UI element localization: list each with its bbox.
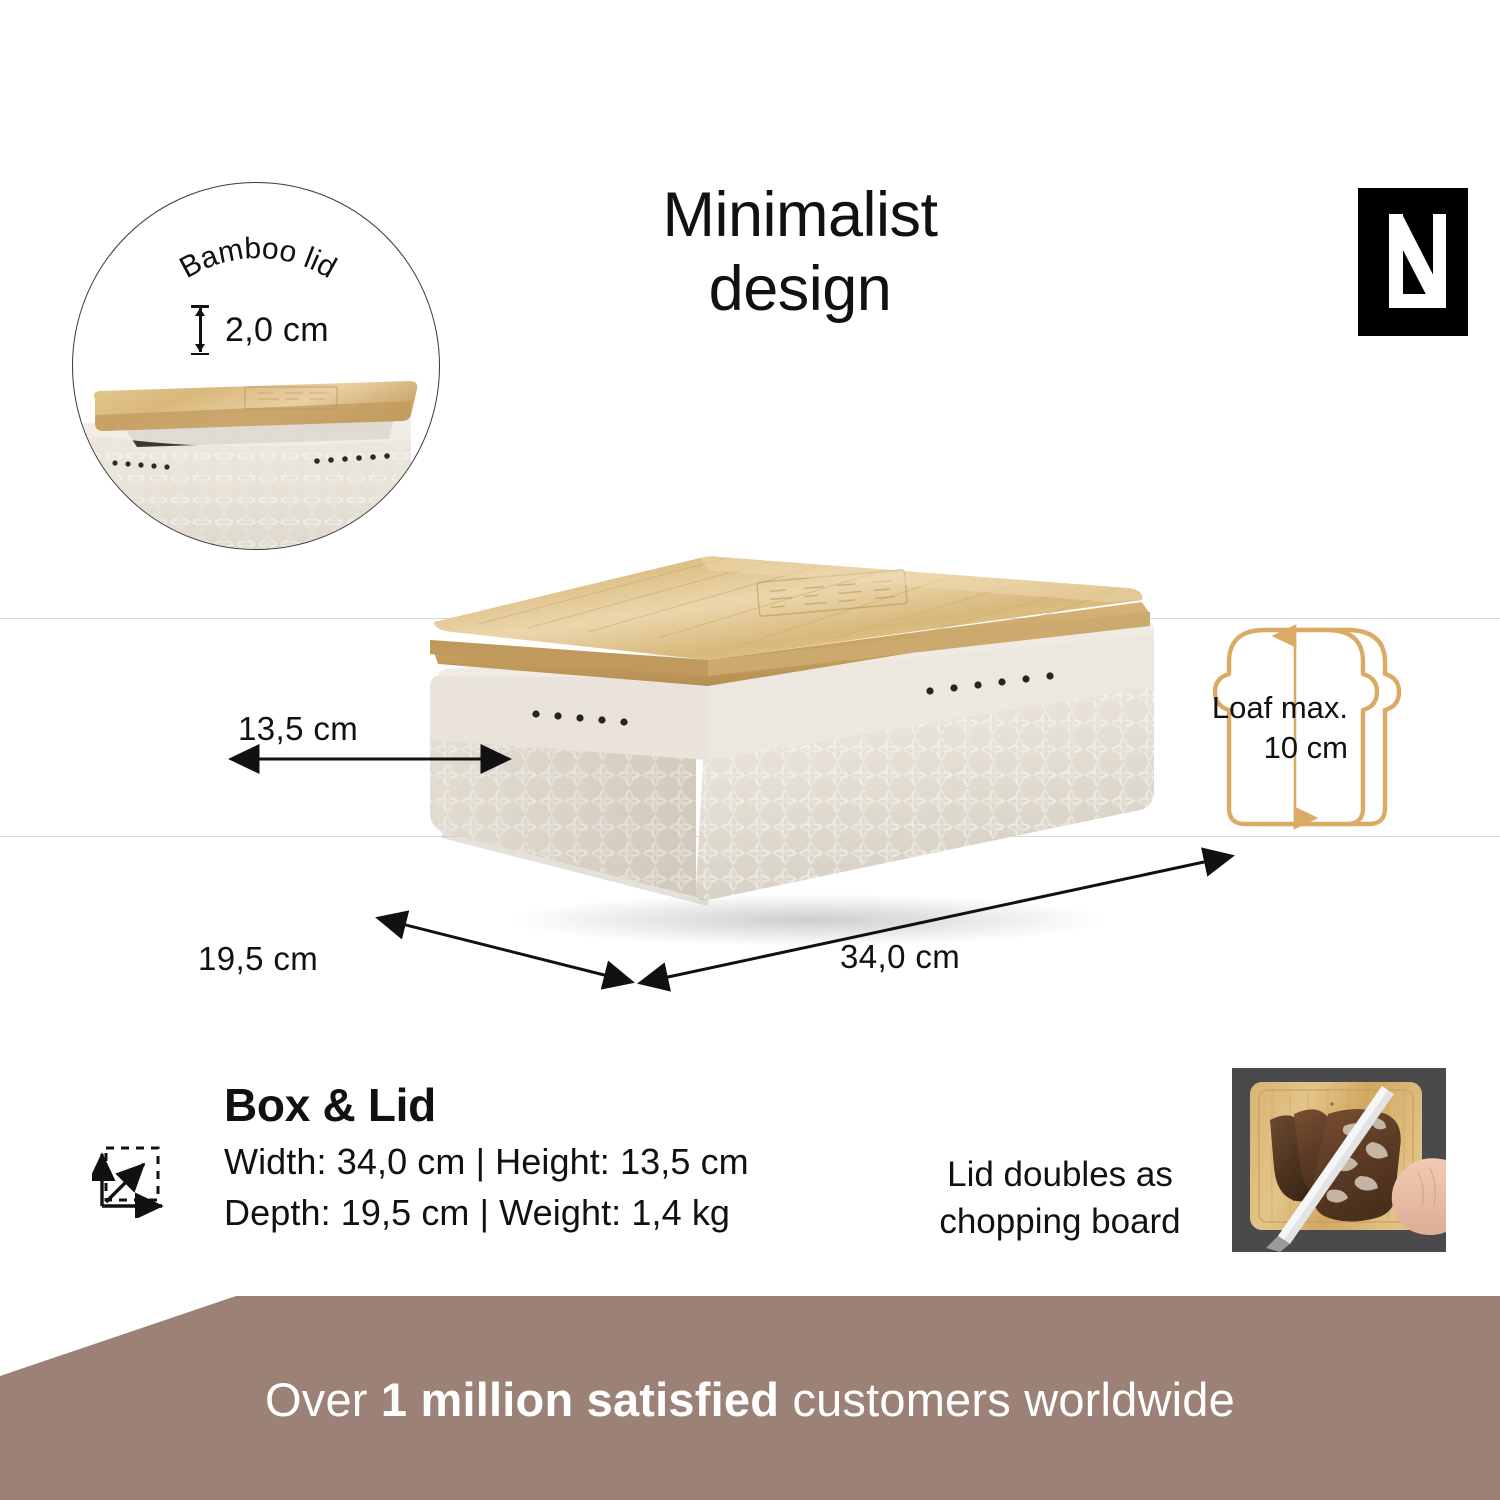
height-dimension-label: 13,5 cm — [238, 710, 358, 748]
depth-dimension-label: 19,5 cm — [198, 940, 318, 978]
loaf-max-line2: 10 cm — [1188, 728, 1348, 768]
svg-text:Bamboo lid: Bamboo lid — [174, 232, 341, 285]
spec-text-group: Box & Lid Width: 34,0 cm | Height: 13,5 … — [224, 1078, 749, 1238]
loaf-max-label: Loaf max. 10 cm — [1188, 688, 1348, 767]
cutting-board-illustration — [1232, 1068, 1446, 1252]
spec-line-2: Depth: 19,5 cm | Weight: 1,4 kg — [224, 1187, 749, 1238]
brand-logo — [1358, 188, 1468, 336]
page-title-line2: design — [520, 252, 1080, 326]
inset-arc-text: Bamboo lid — [174, 232, 341, 285]
spec-line-1: Width: 34,0 cm | Height: 13,5 cm — [224, 1136, 749, 1187]
chopping-board-line1: Lid doubles as — [947, 1155, 1173, 1194]
width-dimension-label: 34,0 cm — [840, 938, 960, 976]
bamboo-lid-inset: Bamboo lid 2,0 cm — [72, 182, 440, 550]
spec-heading: Box & Lid — [224, 1078, 749, 1132]
infographic-canvas: Minimalist design Bamboo lid 2,0 cm — [0, 0, 1500, 1500]
page-title-line1: Minimalist — [662, 180, 937, 250]
banner-highlight: 1 million satisfied — [381, 1373, 779, 1426]
bread-on-cutting-board-photo — [1232, 1068, 1446, 1252]
chopping-board-label: Lid doubles as chopping board — [905, 1152, 1215, 1245]
bread-box-product-image — [408, 528, 1168, 948]
loaf-max-line1: Loaf max. — [1212, 690, 1348, 725]
height-arrow-icon — [191, 305, 209, 355]
lid-thickness-row: 2,0 cm — [191, 305, 329, 355]
page-title: Minimalist design — [520, 178, 1080, 327]
trust-banner-text: Over 1 million satisfied customers world… — [0, 1372, 1500, 1427]
banner-suffix: customers worldwide — [779, 1373, 1235, 1426]
lid-thickness-value: 2,0 cm — [225, 311, 329, 350]
chopping-board-line2: chopping board — [905, 1199, 1215, 1246]
banner-prefix: Over — [265, 1373, 381, 1426]
ln-monogram-icon — [1358, 188, 1468, 336]
dimensions-icon — [92, 1140, 170, 1218]
inset-product-illustration — [72, 379, 440, 550]
